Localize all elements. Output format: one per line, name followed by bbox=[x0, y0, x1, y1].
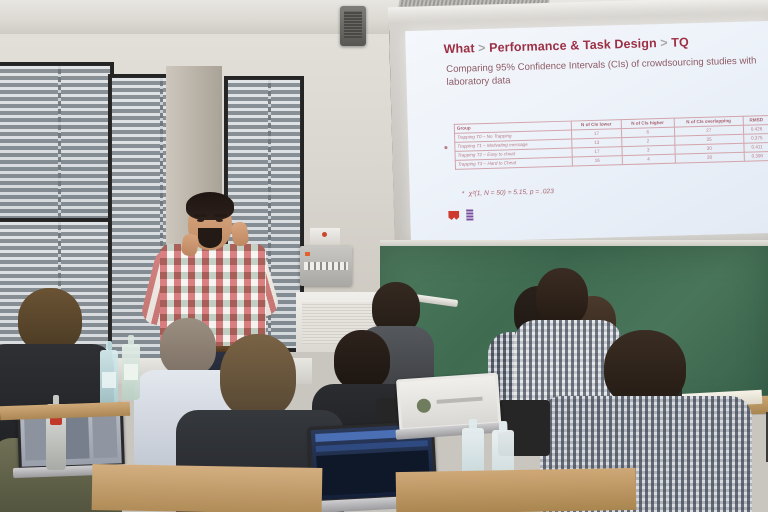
cell-rmsd: 0.390 bbox=[744, 152, 768, 162]
slide-title-part3: TQ bbox=[671, 35, 689, 49]
head bbox=[536, 268, 588, 326]
desk-surface bbox=[396, 468, 637, 512]
cell-higher: 4 bbox=[622, 154, 675, 164]
water-bottle[interactable] bbox=[122, 344, 140, 400]
slide-title-separator: > bbox=[478, 41, 486, 55]
desk-surface bbox=[92, 464, 323, 512]
presenter-eye bbox=[216, 219, 223, 222]
presentation-slide: What > Performance & Task Design > TQ Co… bbox=[409, 19, 768, 243]
cell-group: Trapping T3 – Hard to Cheat bbox=[455, 157, 572, 169]
slide-logos bbox=[448, 209, 473, 221]
presenter-right-hand bbox=[230, 221, 249, 247]
slide-title: What > Performance & Task Design > TQ bbox=[443, 35, 689, 56]
head bbox=[334, 330, 390, 390]
laptop-screen[interactable] bbox=[399, 376, 498, 429]
bullet-dot-icon bbox=[444, 146, 447, 149]
wall-sensor-box bbox=[310, 228, 340, 246]
institute-logo-icon bbox=[466, 209, 473, 220]
slide-footnote: * bbox=[462, 191, 465, 198]
slide-subtitle: Comparing 95% Confidence Intervals (CIs)… bbox=[446, 54, 768, 89]
window-pane bbox=[0, 62, 114, 222]
av-control-panel[interactable] bbox=[300, 246, 352, 286]
slide-title-main: What bbox=[443, 41, 474, 56]
slide-footnote-formula: χ²(1, N = 50) = 5.15, p = .023 bbox=[469, 188, 554, 197]
head bbox=[18, 288, 82, 352]
wall-speaker-icon bbox=[340, 6, 366, 46]
tu-logo-icon bbox=[448, 211, 459, 220]
indicator-dot-icon bbox=[322, 232, 327, 237]
presenter-eyebrow bbox=[214, 214, 227, 217]
cell-overlapping: 30 bbox=[675, 152, 745, 163]
water-bottle[interactable] bbox=[100, 350, 118, 408]
power-led-icon bbox=[305, 252, 310, 256]
ci-comparison-table: Group N of CIs lower N of CIs higher N o… bbox=[454, 115, 768, 170]
presenter-eyebrow bbox=[194, 214, 207, 217]
head bbox=[604, 330, 686, 406]
presenter-eye bbox=[197, 219, 204, 222]
slide-title-separator-2: > bbox=[660, 36, 668, 50]
slide-title-part2: Performance & Task Design bbox=[489, 36, 657, 55]
presenter-beard bbox=[198, 228, 222, 248]
panel-buttons[interactable] bbox=[304, 262, 348, 270]
head bbox=[220, 334, 296, 418]
cell-lower: 16 bbox=[572, 156, 622, 166]
laptop[interactable] bbox=[396, 373, 502, 442]
lecture-hall-photo: What > Performance & Task Design > TQ Co… bbox=[0, 0, 768, 512]
